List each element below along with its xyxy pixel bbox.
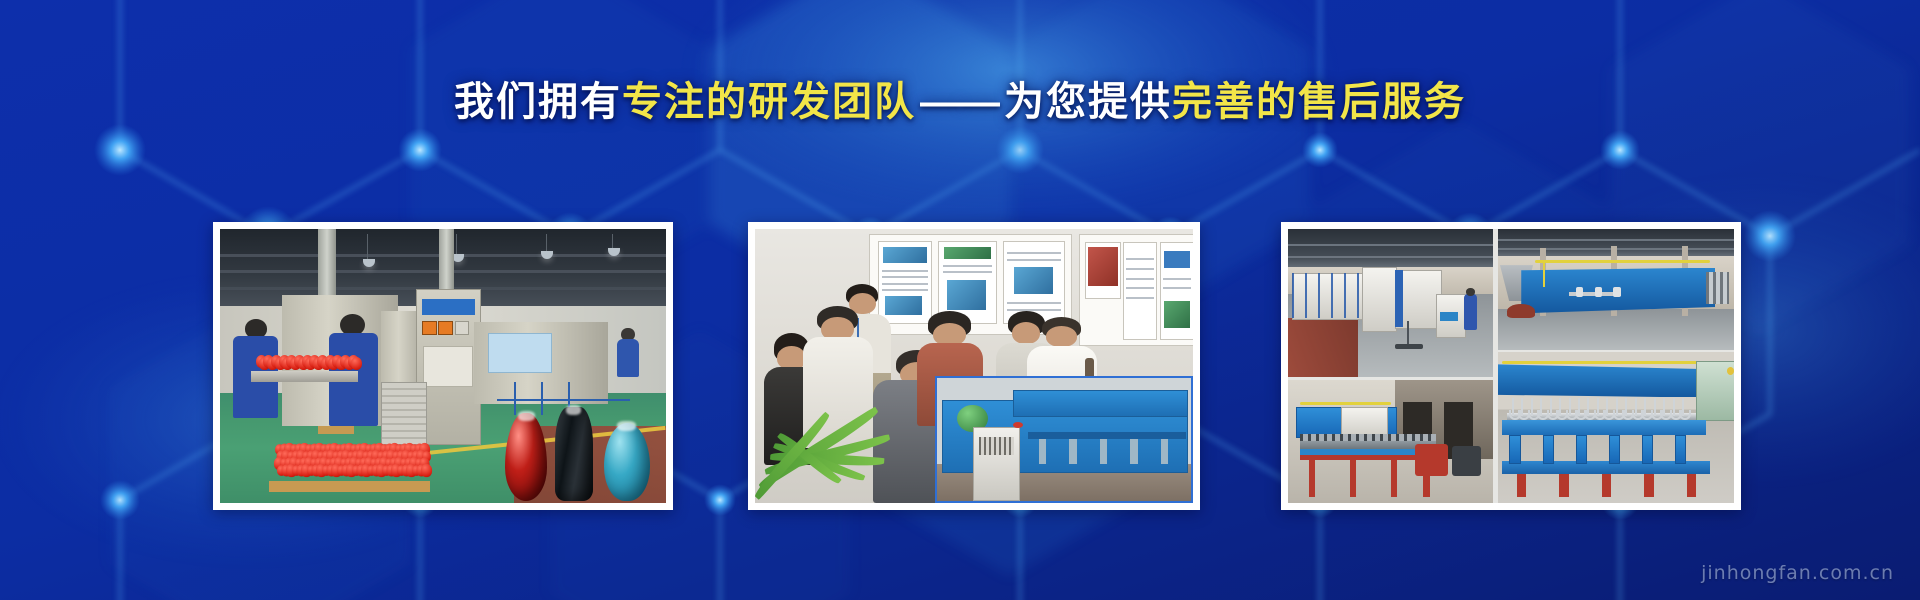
inset-machine-post	[1100, 439, 1108, 464]
conveyor-hook	[1682, 398, 1684, 416]
poster-image	[883, 247, 927, 263]
furnace-end-grill	[1706, 272, 1730, 303]
indicator-light	[422, 321, 436, 335]
conveyor-hook	[1635, 398, 1637, 416]
inset-machine-top	[1013, 390, 1188, 417]
machine-rail	[497, 399, 631, 401]
table-leg	[1576, 435, 1587, 464]
lamp-stem	[367, 234, 368, 259]
collage-cell-conveyor-line	[1288, 380, 1493, 503]
poster-header	[1164, 251, 1190, 268]
red-ornament	[351, 357, 362, 370]
indicator-light	[455, 321, 469, 335]
valve	[1613, 287, 1620, 297]
cabinet-label	[422, 299, 474, 314]
exhaust-duct	[439, 229, 455, 295]
inset-machine-post	[1039, 439, 1047, 464]
worker-distant	[617, 339, 639, 377]
vase-highlight	[566, 405, 581, 415]
inset-machine-post	[1069, 439, 1077, 464]
collage-cell-hook-conveyor	[1498, 352, 1734, 503]
foreground-plant	[755, 377, 939, 503]
conveyor-hook	[1587, 398, 1589, 416]
conveyor-hook	[1673, 398, 1675, 416]
poster	[1085, 242, 1121, 299]
equipment-collage-photo	[1288, 229, 1734, 503]
vase-highlight	[617, 421, 635, 431]
poster-diagram	[947, 280, 985, 311]
status-lamp	[1727, 367, 1734, 375]
tunnel-edge	[1395, 270, 1403, 326]
conveyor-leg	[1350, 460, 1356, 497]
floor-squeegee	[1395, 344, 1424, 348]
conveyor-chain	[1300, 434, 1435, 441]
conveyor-hook	[1625, 398, 1627, 416]
base-leg-red	[1517, 474, 1526, 497]
table-leg	[1609, 435, 1620, 464]
conveyor-belt	[251, 371, 358, 382]
glass-vase-blue	[604, 423, 650, 501]
banner-headline: 我们拥有专注的研发团队——为您提供完善的售后服务	[0, 82, 1920, 122]
worker-distant	[1464, 294, 1476, 330]
inset-machine-post	[1161, 439, 1169, 464]
poster-certificate	[1160, 242, 1193, 340]
conveyor-hook	[1550, 398, 1552, 416]
table-leg	[1543, 435, 1554, 464]
poster-image	[1088, 247, 1118, 285]
cabinet-screen	[423, 346, 472, 388]
poster-image	[1164, 301, 1190, 328]
photo-panel-production-line[interactable]	[213, 222, 673, 510]
plastic-crate	[381, 382, 428, 444]
yellow-drop-pipe	[1543, 260, 1545, 287]
red-ornament-pile	[274, 443, 426, 481]
poster-certificate	[1123, 242, 1157, 340]
inset-machine-rail	[1028, 432, 1185, 439]
floor-post	[1407, 321, 1409, 345]
table-leg	[1675, 435, 1686, 464]
table-leg	[1642, 435, 1653, 464]
team-meeting-photo	[755, 229, 1193, 503]
machine-post	[541, 382, 543, 415]
lamp-stem	[612, 234, 613, 248]
cabinet-label	[1440, 312, 1458, 321]
photo-panel-equipment-collage[interactable]	[1281, 222, 1741, 510]
conveyor-hook	[1512, 398, 1514, 416]
conveyor-hook	[1654, 398, 1656, 416]
valve	[1576, 287, 1583, 297]
conveyor-hook	[1559, 398, 1561, 416]
headline-segment-5: 完善的售后服务	[1172, 80, 1466, 124]
site-watermark: jinhongfan.com.cn	[1701, 562, 1894, 584]
inset-machine-post	[1130, 439, 1138, 464]
headline-segment-4: 为您提供	[1004, 80, 1172, 124]
vase-highlight	[518, 411, 535, 421]
conveyor-hook	[1616, 398, 1618, 416]
conveyor-hook	[1663, 398, 1665, 416]
hall-roof	[1288, 229, 1493, 270]
production-line-photo	[220, 229, 666, 503]
worker-head-distant	[1466, 288, 1474, 295]
lamp-stem	[546, 234, 547, 250]
red-ornament-row	[256, 355, 354, 369]
inset-control-cabinet	[973, 427, 1021, 501]
conveyor-hook	[1578, 398, 1580, 416]
lamp-stem	[456, 234, 457, 253]
inset-equipment-photo	[935, 376, 1193, 503]
conveyor-hook	[1521, 398, 1523, 416]
blue-oven-wall	[1498, 364, 1701, 397]
headline-segment-1: 我们拥有	[454, 80, 622, 124]
table-leg	[1509, 435, 1520, 464]
yellow-gantry-pipe	[1300, 402, 1390, 405]
hall-floor-red	[1288, 318, 1358, 377]
wooden-stool	[318, 426, 354, 434]
conveyor-hook	[1606, 398, 1608, 416]
glass-vase-dark	[555, 407, 593, 501]
conveyor-leg	[1309, 460, 1315, 497]
conveyor-hook	[1569, 398, 1571, 416]
yellow-gas-pipe	[1502, 361, 1701, 364]
machine-post	[514, 382, 516, 415]
base-leg-red	[1644, 474, 1653, 497]
conveyor-leg	[1391, 460, 1397, 497]
poster-diagram	[1014, 267, 1054, 294]
indicator-light	[438, 321, 452, 335]
red-machine-part	[1415, 444, 1448, 476]
collage-cell-tunnel-furnace	[1498, 229, 1734, 350]
headline-segment-2: 专注的研发团队	[622, 80, 916, 124]
conveyor-hook	[1597, 398, 1599, 416]
promo-banner: 我们拥有专注的研发团队——为您提供完善的售后服务	[0, 0, 1920, 600]
furnace-base-red	[1507, 304, 1535, 318]
dark-machine-part	[1452, 446, 1481, 476]
inset-cabinet-grill	[979, 437, 1014, 456]
conveyor-table-top	[1502, 420, 1705, 435]
collage-cell-production-hall	[1288, 229, 1493, 377]
conveyor-hook	[1644, 398, 1646, 416]
conveyor-hook	[1540, 398, 1542, 416]
poster-image	[944, 247, 991, 258]
wooden-pallet	[269, 481, 430, 492]
headline-dash: ——	[916, 80, 1004, 124]
photo-panel-group	[0, 222, 1920, 510]
valve	[1595, 287, 1602, 297]
base-leg-red	[1559, 474, 1568, 497]
photo-panel-team-meeting[interactable]	[748, 222, 1200, 510]
conveyor-hook	[1531, 398, 1533, 416]
base-leg-red	[1687, 474, 1696, 497]
yellow-gas-pipe	[1535, 260, 1710, 263]
white-cabinet	[1362, 267, 1397, 331]
base-leg-red	[1602, 474, 1611, 497]
red-ornament	[421, 464, 432, 477]
machine-document	[488, 333, 552, 373]
